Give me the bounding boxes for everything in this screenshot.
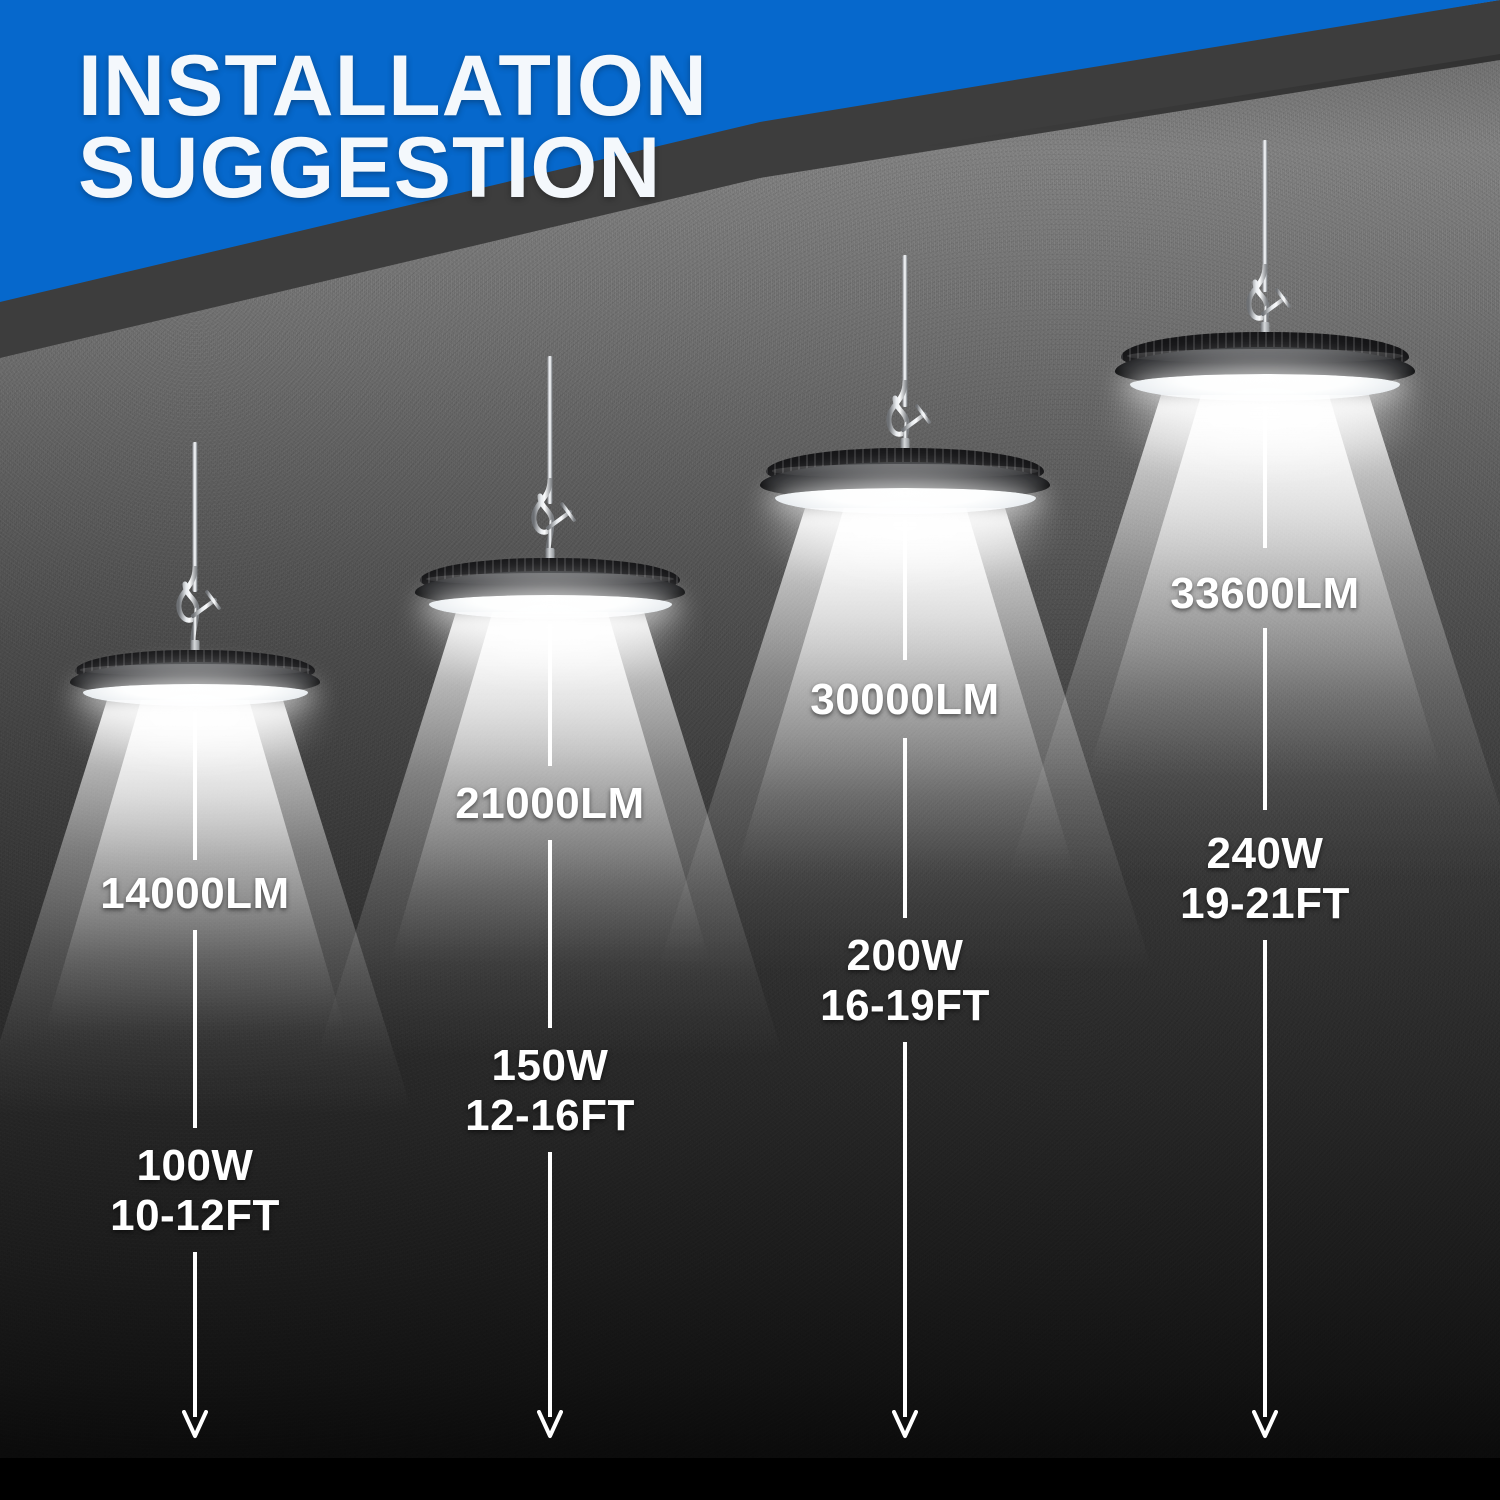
lumens-label: 14000LM bbox=[100, 872, 289, 916]
ufo-high-bay-light-icon bbox=[1115, 322, 1415, 410]
ufo-high-bay-light-icon bbox=[415, 548, 685, 626]
power-label: 150W bbox=[492, 1040, 609, 1092]
led-lens-diffuser bbox=[775, 488, 1036, 514]
height-label: 12-16FT bbox=[465, 1090, 635, 1142]
power-label: 100W bbox=[137, 1140, 254, 1192]
height-label: 19-21FT bbox=[1180, 878, 1350, 930]
lumens-label: 33600LM bbox=[1170, 572, 1359, 616]
installation-suggestion-infographic: INSTALLATION SUGGESTION bbox=[0, 0, 1500, 1500]
measure-line-lower bbox=[193, 930, 197, 1128]
floor-band bbox=[0, 1458, 1500, 1500]
ufo-high-bay-light-icon bbox=[70, 640, 320, 712]
down-arrow-icon bbox=[892, 1410, 918, 1440]
measure-line-final bbox=[193, 1252, 197, 1417]
ufo-high-bay-light-icon bbox=[760, 438, 1050, 522]
housing-highlight bbox=[772, 464, 1039, 477]
down-arrow-icon bbox=[1252, 1410, 1278, 1440]
down-arrow-icon bbox=[182, 1410, 208, 1440]
measure-line-upper bbox=[193, 712, 197, 860]
lumens-label: 21000LM bbox=[455, 782, 644, 826]
housing-highlight bbox=[426, 573, 674, 585]
led-lens-diffuser bbox=[429, 595, 672, 619]
led-lens-diffuser bbox=[83, 684, 308, 706]
measure-line-upper bbox=[548, 624, 552, 766]
measure-line-lower bbox=[548, 840, 552, 1028]
page-title: INSTALLATION SUGGESTION bbox=[78, 46, 708, 209]
led-lens-diffuser bbox=[1130, 374, 1400, 401]
measure-line-final bbox=[548, 1152, 552, 1417]
measure-line-upper bbox=[903, 520, 907, 660]
lumens-label: 30000LM bbox=[810, 678, 999, 722]
housing-highlight bbox=[80, 664, 310, 676]
down-arrow-icon bbox=[537, 1410, 563, 1440]
height-label: 10-12FT bbox=[110, 1190, 280, 1242]
measure-line-upper bbox=[1263, 406, 1267, 548]
housing-highlight bbox=[1127, 349, 1403, 363]
height-label: 16-19FT bbox=[820, 980, 990, 1032]
power-label: 200W bbox=[847, 930, 964, 982]
measure-line-lower bbox=[903, 738, 907, 918]
measure-line-lower bbox=[1263, 628, 1267, 810]
measure-line-final bbox=[903, 1042, 907, 1417]
power-label: 240W bbox=[1207, 828, 1324, 880]
measure-line-final bbox=[1263, 940, 1267, 1417]
